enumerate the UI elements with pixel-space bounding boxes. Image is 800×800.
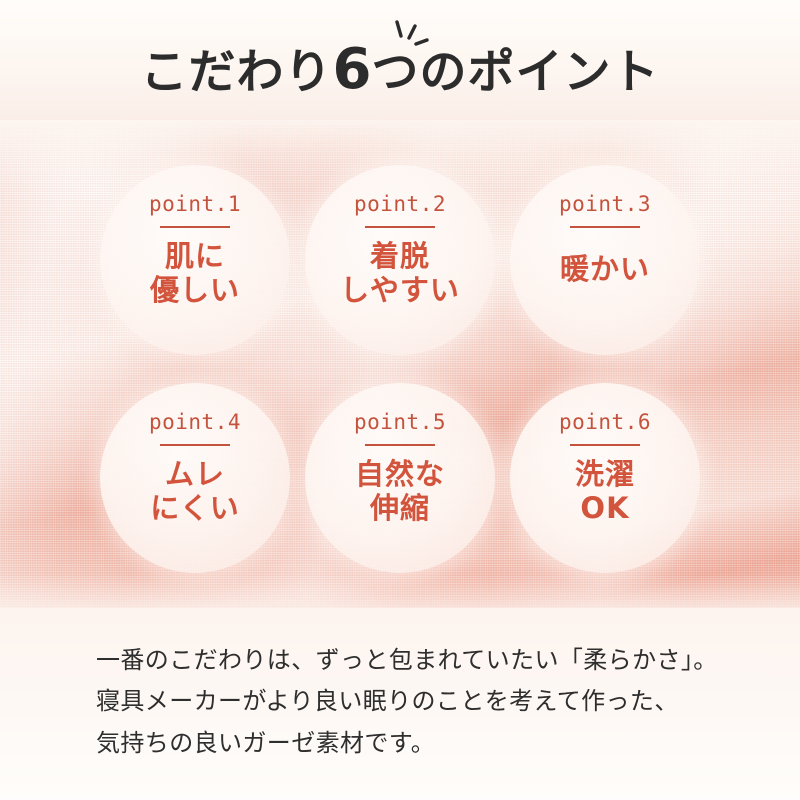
footer-description-line-1: 一番のこだわりは、ずっと包まれていたい「柔らかさ」。 <box>96 640 756 681</box>
point-6-text-line-2: OK <box>575 491 635 525</box>
point-6-label: point.6 <box>559 412 651 433</box>
point-circle-5: point.5 自然な 伸縮 <box>305 383 495 573</box>
point-5-text-line-2: 伸縮 <box>355 491 445 525</box>
point-5-text-line-1: 自然な <box>355 457 445 491</box>
page-title-number: 6 <box>333 37 372 102</box>
point-3-divider <box>570 226 640 228</box>
point-1-text-line-1: 肌に <box>150 239 240 273</box>
point-circle-6: point.6 洗濯 OK <box>510 383 700 573</box>
point-5-text: 自然な 伸縮 <box>355 457 445 525</box>
page-title-prefix: こだわり <box>141 45 333 100</box>
point-4-text: ムレ にくい <box>150 457 239 525</box>
point-4-text-line-2: にくい <box>150 491 239 525</box>
point-6-text: 洗濯 OK <box>575 457 635 525</box>
footer-description-line-2: 寝具メーカーがより良い眠りのことを考えて作った、 <box>96 681 756 722</box>
point-3-label: point.3 <box>559 194 651 215</box>
point-2-label: point.2 <box>354 194 446 215</box>
point-circle-4: point.4 ムレ にくい <box>100 383 290 573</box>
point-2-text: 着脱 しやすい <box>340 239 460 307</box>
page-title-suffix: つのポイント <box>371 45 659 100</box>
point-2-divider <box>365 226 435 228</box>
footer-band: 一番のこだわりは、ずっと包まれていたい「柔らかさ」。 寝具メーカーがより良い眠り… <box>0 608 800 800</box>
point-6-divider <box>570 444 640 446</box>
point-2-text-line-1: 着脱 <box>340 239 460 273</box>
point-6-text-line-1: 洗濯 <box>575 457 635 491</box>
point-5-divider <box>365 444 435 446</box>
page-title: こだわり6つのポイント <box>0 33 800 102</box>
footer-description: 一番のこだわりは、ずっと包まれていたい「柔らかさ」。 寝具メーカーがより良い眠り… <box>96 640 756 764</box>
point-1-label: point.1 <box>149 194 241 215</box>
point-2-text-line-2: しやすい <box>340 273 460 307</box>
point-4-label: point.4 <box>149 412 241 433</box>
footer-description-line-3: 気持ちの良いガーゼ素材です。 <box>96 723 756 764</box>
point-circle-3: point.3 暖かい <box>510 165 700 355</box>
header-band: こだわり6つのポイント <box>0 0 800 120</box>
point-1-text: 肌に 優しい <box>150 239 240 307</box>
point-circle-2: point.2 着脱 しやすい <box>305 165 495 355</box>
point-1-text-line-2: 優しい <box>150 273 240 307</box>
point-1-divider <box>160 226 230 228</box>
point-4-text-line-1: ムレ <box>150 457 239 491</box>
point-5-label: point.5 <box>354 412 446 433</box>
fabric-bottom-fade <box>0 574 800 608</box>
point-3-text-line-1: 暖かい <box>560 252 650 286</box>
point-3-text: 暖かい <box>560 252 650 286</box>
point-4-divider <box>160 444 230 446</box>
infographic-page: こだわり6つのポイント point.1 肌に 優しい point.2 着脱 しや… <box>0 0 800 800</box>
point-circle-1: point.1 肌に 優しい <box>100 165 290 355</box>
